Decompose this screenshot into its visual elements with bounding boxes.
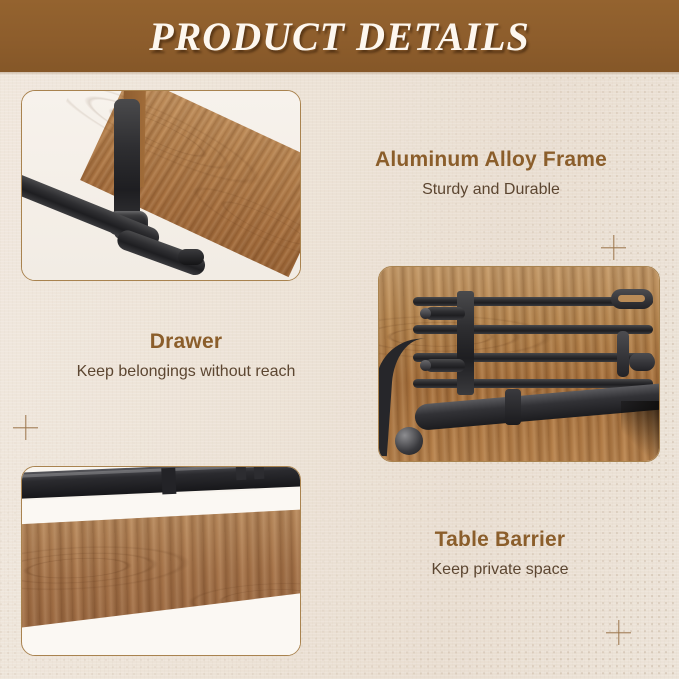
banner-bottom-edge (0, 72, 679, 75)
barrier-bracket-arm-top (425, 307, 465, 320)
barrier-bracket-arm-bottom (425, 359, 465, 372)
barrier-hinge-plate (505, 389, 521, 425)
feature-headline-aluminum-alloy-frame: Aluminum Alloy Frame (316, 148, 666, 172)
barrier-knob-top (420, 308, 431, 319)
decorative-cross-icon-upper-right (601, 235, 626, 260)
header-banner: PRODUCT DETAILS (0, 0, 679, 72)
page-title: PRODUCT DETAILS (149, 13, 530, 60)
feature-subline-drawer: Keep belongings without reach (16, 363, 356, 381)
feature-headline-table-barrier: Table Barrier (330, 528, 670, 552)
drawer-rail-notch-right-a (236, 467, 247, 480)
decorative-cross-icon-left (13, 415, 38, 440)
barrier-endcap-top (611, 289, 653, 309)
feature-image-drawer (21, 466, 301, 656)
product-details-infographic: PRODUCT DETAILS Aluminum Alloy Frame (0, 0, 679, 679)
feature-text-drawer: Drawer Keep belongings without reach (16, 330, 356, 381)
barrier-pivot-dial (395, 427, 423, 455)
drawer-rail-notch-right-b (254, 467, 265, 479)
feature-image-aluminum-alloy-frame (21, 90, 301, 281)
feature-text-aluminum-alloy-frame: Aluminum Alloy Frame Sturdy and Durable (316, 148, 666, 199)
feature-image-table-barrier (378, 266, 660, 462)
feature-headline-drawer: Drawer (16, 330, 356, 354)
barrier-endcap-mid (617, 331, 629, 377)
barrier-shadow (621, 401, 659, 461)
feature-subline-table-barrier: Keep private space (330, 561, 670, 579)
barrier-endcap-bottom (629, 353, 655, 371)
decorative-cross-icon-lower-right (606, 620, 631, 645)
feature-text-table-barrier: Table Barrier Keep private space (330, 528, 670, 579)
table-foot-cap (178, 249, 204, 265)
feature-subline-aluminum-alloy-frame: Sturdy and Durable (316, 181, 666, 199)
